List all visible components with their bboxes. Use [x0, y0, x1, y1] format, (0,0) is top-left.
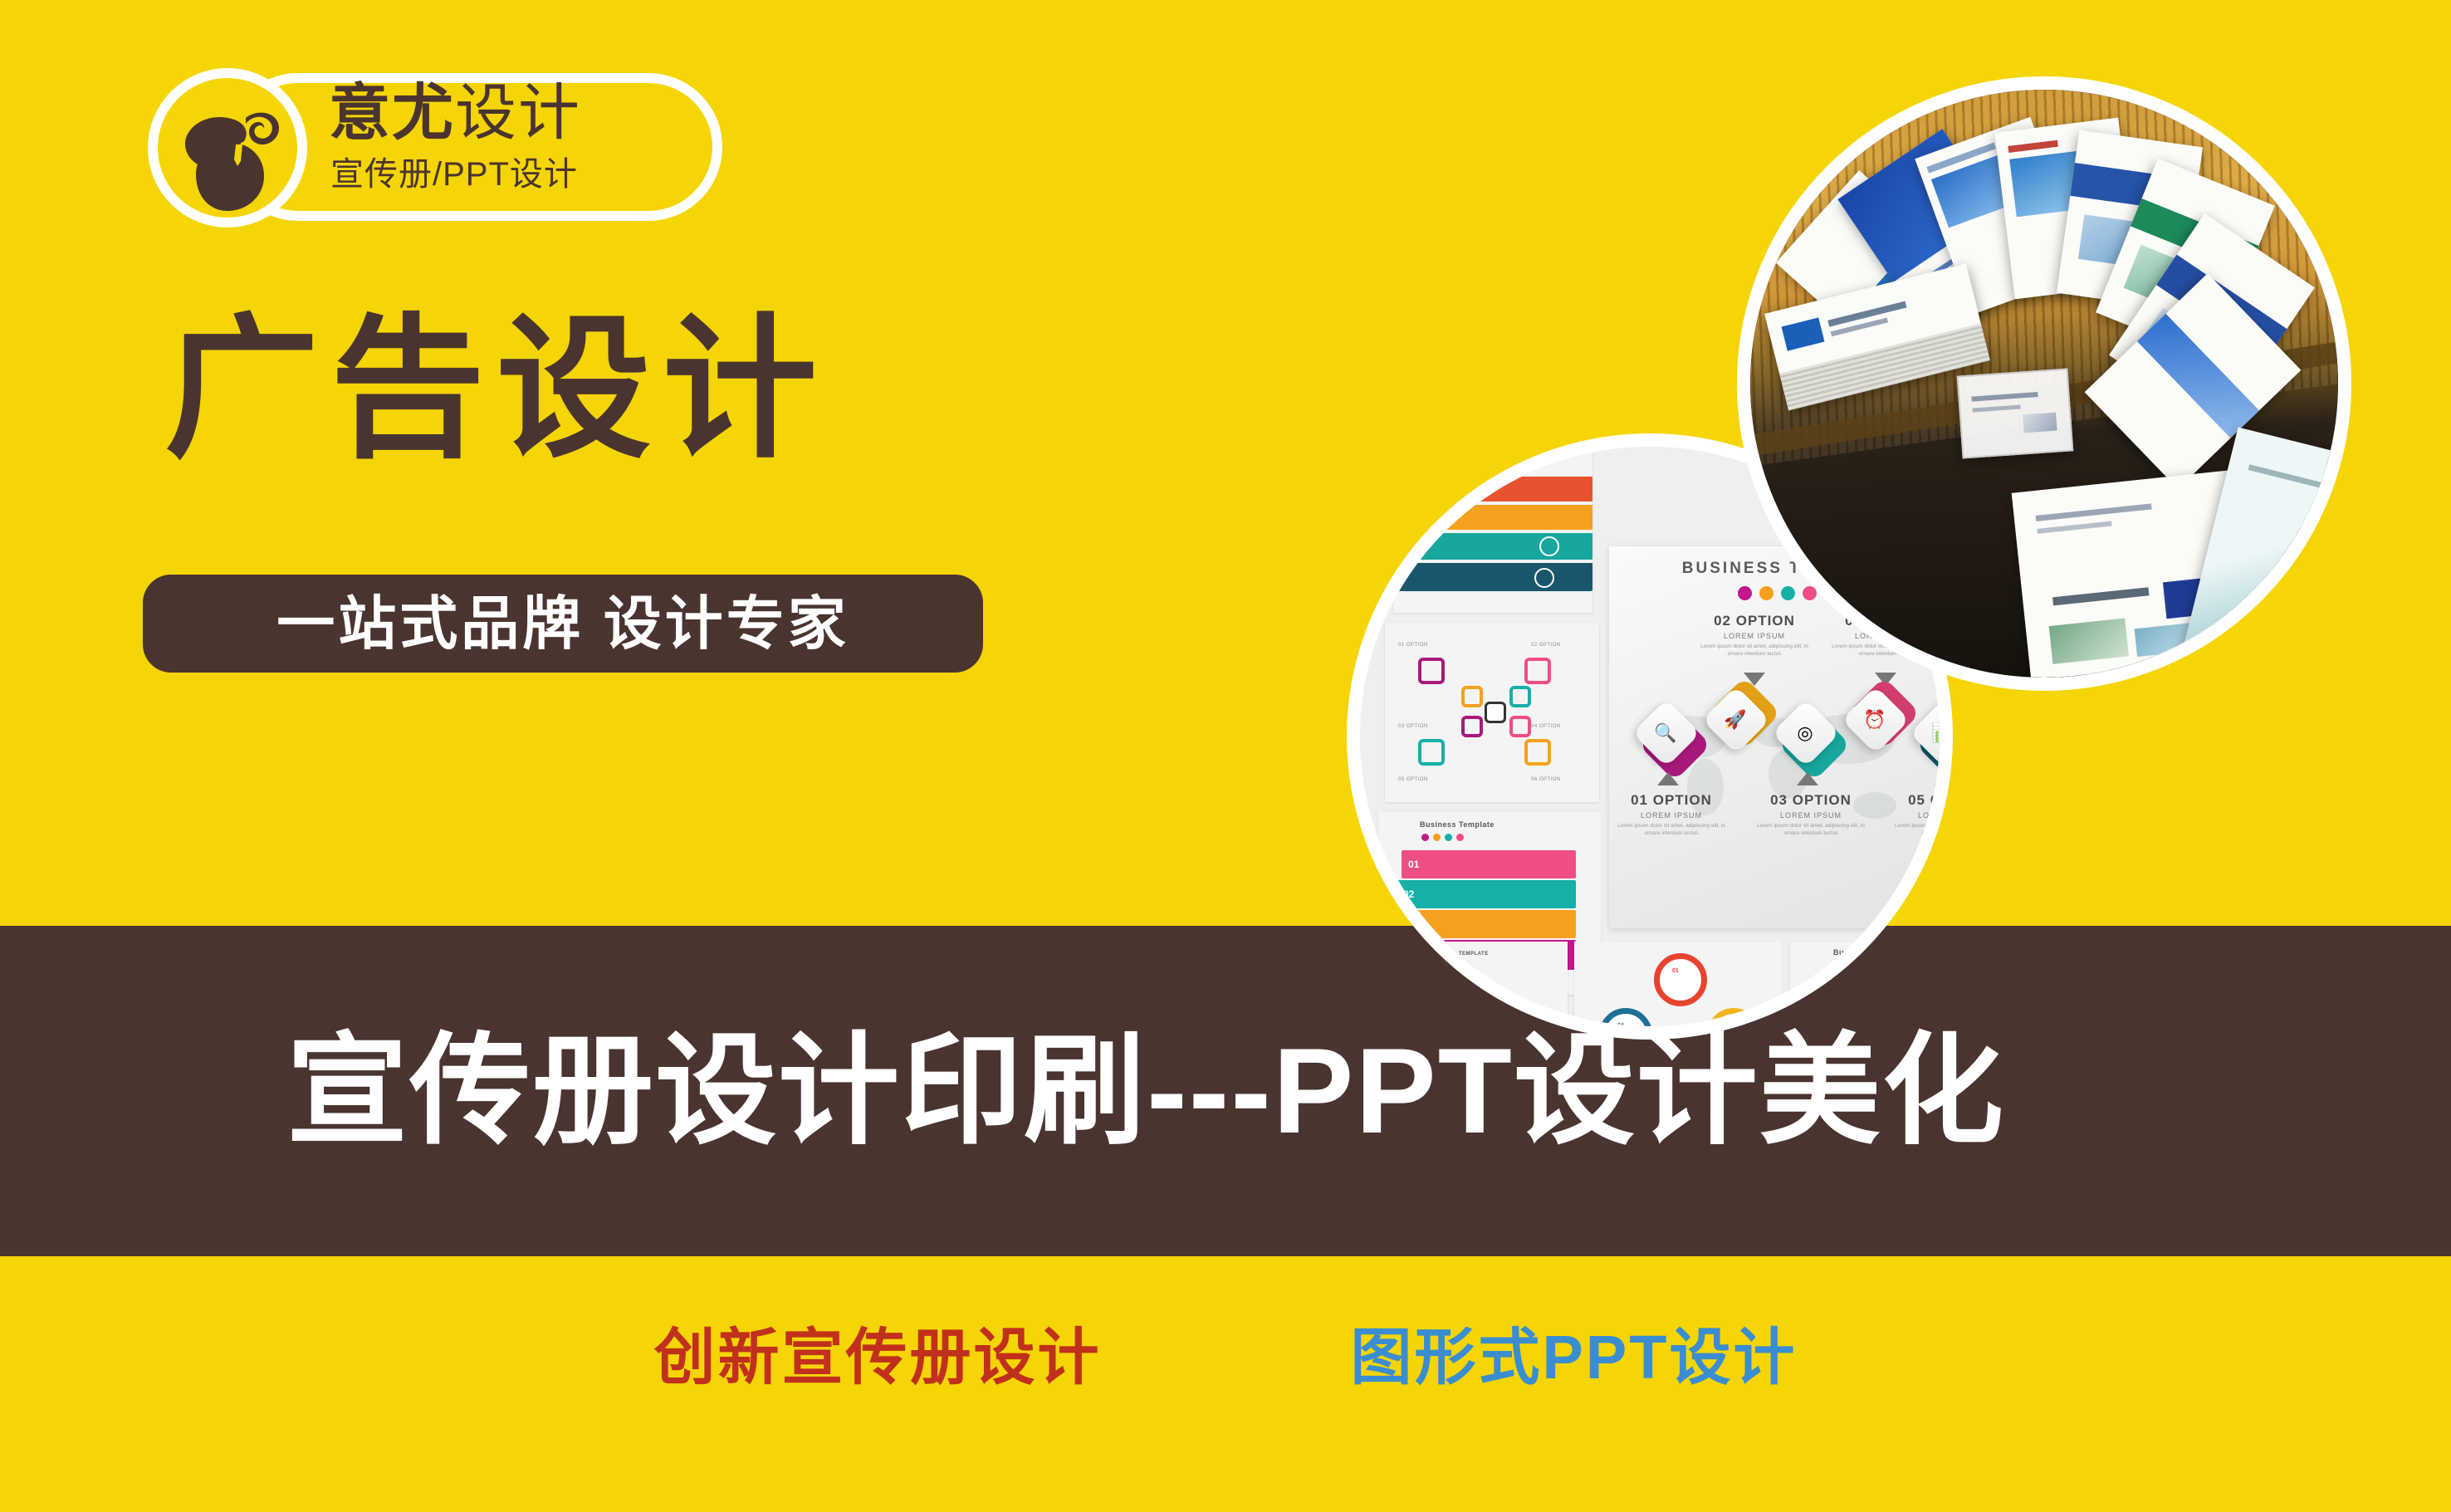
tagline-text: 一站式品牌 设计专家	[276, 591, 849, 656]
printed-brochures-on-wooden-table-photo	[1737, 76, 2351, 691]
ppt-option-label: 05 OPTION LOREM IPSUM Lorem ipsum dolor …	[1886, 792, 1940, 837]
logo-tagline: 宣传册/PPT设计	[330, 154, 578, 194]
ppt-option-label: 01 OPTION LOREM IPSUM Lorem ipsum dolor …	[1609, 792, 1734, 837]
footer-item-ppt[interactable]: 图形式PPT设计	[1351, 1321, 1798, 1394]
poster-canvas: 意尤设计 宣传册/PPT设计 广告设计 一站式品牌 设计专家	[0, 0, 2451, 1512]
tagline-pill: 一站式品牌 设计专家	[143, 575, 983, 673]
logo-name-thin: 设计	[455, 78, 581, 147]
logo-circle-outline	[148, 68, 307, 228]
logo-wordmark: 意尤设计 宣传册/PPT设计	[329, 76, 719, 218]
alarm-clock-icon: ⏰	[1863, 708, 1886, 732]
ppt-option-label: 03 OPTION LOREM IPSUM Lorem ipsum dolor …	[1749, 792, 1873, 837]
footer-links: 创新宣传册设计 图形式PPT设计	[0, 1283, 2451, 1432]
magnifier-icon: 🔍	[1654, 722, 1677, 745]
page-title: 广告设计	[164, 309, 829, 472]
rocket-icon: 🚀	[1724, 708, 1747, 732]
banner-strip	[0, 926, 2451, 1256]
logo-name-bold: 意尤	[329, 78, 455, 147]
presentation-icon: 📊	[1931, 722, 1940, 745]
footer-item-brochure[interactable]: 创新宣传册设计	[654, 1321, 1102, 1394]
logo-title: 意尤设计	[329, 78, 581, 148]
brand-logo[interactable]: 意尤设计 宣传册/PPT设计	[148, 68, 729, 226]
target-icon: ◎	[1793, 722, 1817, 745]
leaf-bird-mark-icon	[176, 95, 301, 219]
